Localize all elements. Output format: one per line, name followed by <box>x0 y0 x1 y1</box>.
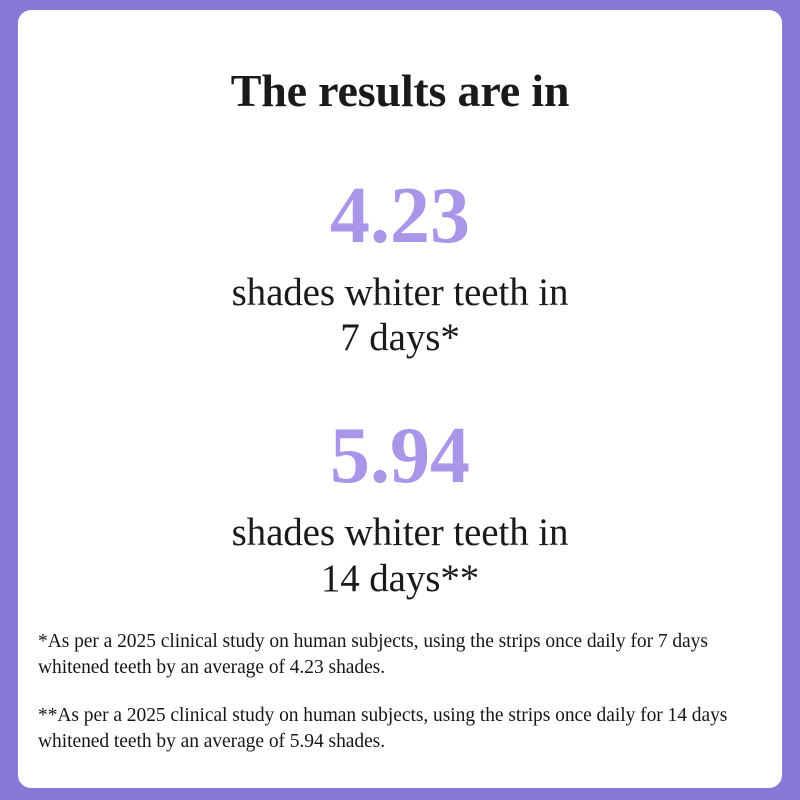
stat-caption-line-2: 7 days* <box>18 315 782 360</box>
purple-frame: The results are in 4.23 shades whiter te… <box>0 0 800 800</box>
stat-caption-14-days: shades whiter teeth in 14 days** <box>18 510 782 600</box>
stat-caption-line-1: shades whiter teeth in <box>18 510 782 555</box>
stat-caption-line-2: 14 days** <box>18 556 782 601</box>
footnote-double-asterisk: **As per a 2025 clinical study on human … <box>38 703 762 755</box>
page-title: The results are in <box>18 67 782 115</box>
stat-block-7-days: 4.23 shades whiter teeth in 7 days* <box>18 176 782 360</box>
content-card: The results are in 4.23 shades whiter te… <box>18 10 782 788</box>
stat-value-14-days: 5.94 <box>18 416 782 496</box>
footnote-single-asterisk: *As per a 2025 clinical study on human s… <box>38 629 762 681</box>
stats-group: 4.23 shades whiter teeth in 7 days* 5.94… <box>18 176 782 601</box>
stat-caption-7-days: shades whiter teeth in 7 days* <box>18 270 782 360</box>
stat-caption-line-1: shades whiter teeth in <box>18 270 782 315</box>
stat-block-14-days: 5.94 shades whiter teeth in 14 days** <box>18 416 782 600</box>
stat-value-7-days: 4.23 <box>18 176 782 256</box>
footnotes-group: *As per a 2025 clinical study on human s… <box>38 609 762 774</box>
